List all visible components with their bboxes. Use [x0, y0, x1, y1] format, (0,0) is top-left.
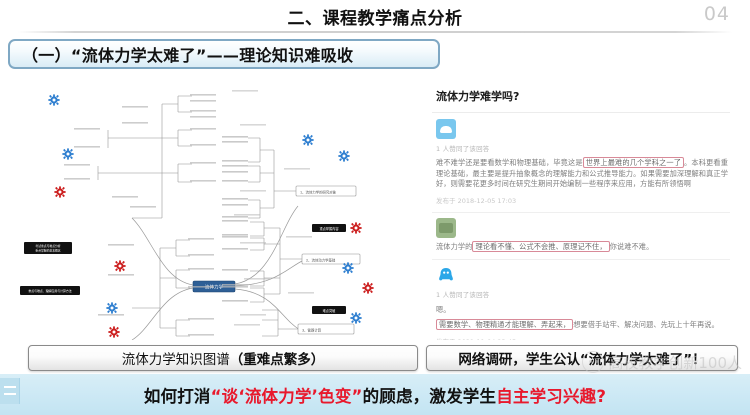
page-number: 04 [704, 3, 730, 25]
qa-divider [432, 259, 730, 260]
qa-answer-1: 1 人赞同了该回答 难不难学还是要看数学和物理基础，毕竟这是世界上最难的几个学科… [428, 119, 734, 205]
green-avatar [436, 218, 456, 238]
qa-answer-body-2: 流体力学的理论看不懂、公式不会推、原理记不住，你说难不难。 [436, 242, 728, 253]
svg-text:考试重点与难点分析: 考试重点与难点分析 [35, 244, 60, 248]
qa-answer-highlight-1: 世界上最难的几个学科之一了 [583, 157, 684, 168]
qa-answer-body-2-prefix: 流体力学的 [436, 242, 472, 251]
bottom-text-accent2: 自主学习兴趣? [496, 387, 606, 406]
red-gear-icon [350, 222, 361, 233]
red-gear-icon [54, 186, 65, 197]
svg-text:2、流体动力学基础: 2、流体动力学基础 [306, 258, 336, 263]
blue-bird-avatar [436, 119, 456, 139]
qa-answer-date-3: 发布于 2021-11-04 23:45 [436, 336, 730, 341]
section-subtitle-banner: （一）“流体力学太难了”——理论知识难吸收 [8, 39, 440, 69]
qq-penguin-avatar [436, 265, 456, 285]
qa-answer-body-2-suffix: 你说难不难。 [610, 242, 654, 251]
qa-answer-body-3: 需要数学、物理精通才能理解、弄起来，想要借手站牢、解决问题、先玩上十年再说。 [436, 320, 728, 331]
blue-gear-icon [48, 94, 59, 105]
mindmap-svg: 流体力学 1、流体力学的研究对象 [12, 78, 416, 340]
qa-answer-3: 1 人赞同了该回答 嗯。 需要数学、物理精通才能理解、弄起来，想要借手站牢、解决… [428, 265, 734, 340]
svg-text:3、管路计算: 3、管路计算 [302, 328, 322, 333]
bottom-left-tab-icon [0, 378, 20, 404]
slide-root: 二、课程教学痛点分析 04 （一）“流体力学太难了”——理论知识难吸收 [0, 0, 750, 415]
bottom-text-part1: 如何打消 [144, 387, 211, 406]
red-gear-icon [108, 326, 119, 337]
red-gear-icon [362, 282, 373, 293]
qa-answer-highlight-2: 理论看不懂、公式不会推、原理记不住， [472, 241, 609, 252]
watermark: 高校教学创新100人 [582, 351, 742, 373]
qa-answer-date-1: 发布于 2018-12-05 17:03 [436, 195, 730, 205]
svg-text:重点掌握的基本概念: 重点掌握的基本概念 [35, 249, 60, 253]
qa-divider [432, 112, 730, 113]
caption-left: 流体力学知识图谱（重难点繁多） [28, 345, 418, 371]
qa-upvote-count-1: 1 人赞同了该回答 [436, 143, 730, 153]
svg-text:重点与难点、理解应用与计算方法: 重点与难点、理解应用与计算方法 [28, 288, 71, 293]
caption-right-normal: 网络调研，学生公认 [458, 352, 580, 368]
qa-upvote-count-3: 1 人赞同了该回答 [436, 289, 730, 299]
svg-text:重点掌握内容: 重点掌握内容 [319, 226, 339, 231]
blue-gear-icon [106, 302, 117, 313]
blue-gear-icon [302, 134, 313, 145]
svg-text:1、流体力学的研究对象: 1、流体力学的研究对象 [300, 190, 337, 195]
caption-left-text: 流体力学知识图谱（重难点繁多） [122, 348, 325, 368]
page-title: 二、课程教学痛点分析 [0, 4, 750, 29]
red-gear-icon [114, 260, 125, 271]
bottom-text-part2: 的顾虑，激发学生 [363, 387, 497, 406]
bottom-text-accent1: “谈‘流体力学’色变” [211, 387, 363, 406]
blue-gear-icon [62, 148, 73, 159]
qq-penguin-icon [436, 265, 456, 285]
qa-answer-2: 流体力学的理论看不懂、公式不会推、原理记不住，你说难不难。 [428, 218, 734, 253]
qa-answer-body-1: 难不难学还是要看数学和物理基础，毕竟这是世界上最难的几个学科之一了。本科更看重理… [436, 158, 728, 190]
wechat-icon [582, 351, 604, 373]
svg-text:难点突破: 难点突破 [323, 308, 337, 313]
caption-left-normal: 流体力学知识图谱 [122, 352, 230, 368]
slide-header: 二、课程教学痛点分析 04 [0, 0, 750, 33]
qa-answer-body-1-prefix: 难不难学还是要看数学和物理基础，毕竟这是 [436, 158, 583, 167]
bottom-banner-text: 如何打消“谈‘流体力学’色变”的顾虑，激发学生自主学习兴趣? [144, 383, 606, 407]
qa-question-title: 流体力学难学吗? [436, 88, 734, 104]
bottom-banner: 如何打消“谈‘流体力学’色变”的顾虑，激发学生自主学习兴趣? [0, 374, 750, 415]
mindmap-image: 流体力学 1、流体力学的研究对象 [12, 78, 416, 340]
blue-gear-icon [338, 150, 349, 161]
qa-answer-highlight-3: 需要数学、物理精通才能理解、弄起来， [436, 319, 573, 330]
blue-gear-icon [350, 312, 361, 323]
blue-gear-icon [342, 262, 353, 273]
qa-divider [432, 212, 730, 213]
caption-left-bold: （重难点繁多） [230, 352, 325, 368]
web-survey-screenshot: 流体力学难学吗? 1 人赞同了该回答 难不难学还是要看数学和物理基础，毕竟这是世… [420, 78, 742, 340]
header-divider [18, 31, 732, 33]
qa-answer-body-3-suffix: 想要借手站牢、解决问题、先玩上十年再说。 [573, 320, 719, 329]
section-subtitle-text: （一）“流体力学太难了”——理论知识难吸收 [22, 42, 353, 66]
watermark-text: 高校教学创新100人 [608, 352, 742, 373]
qa-answer-lead-3: 嗯。 [436, 304, 730, 315]
